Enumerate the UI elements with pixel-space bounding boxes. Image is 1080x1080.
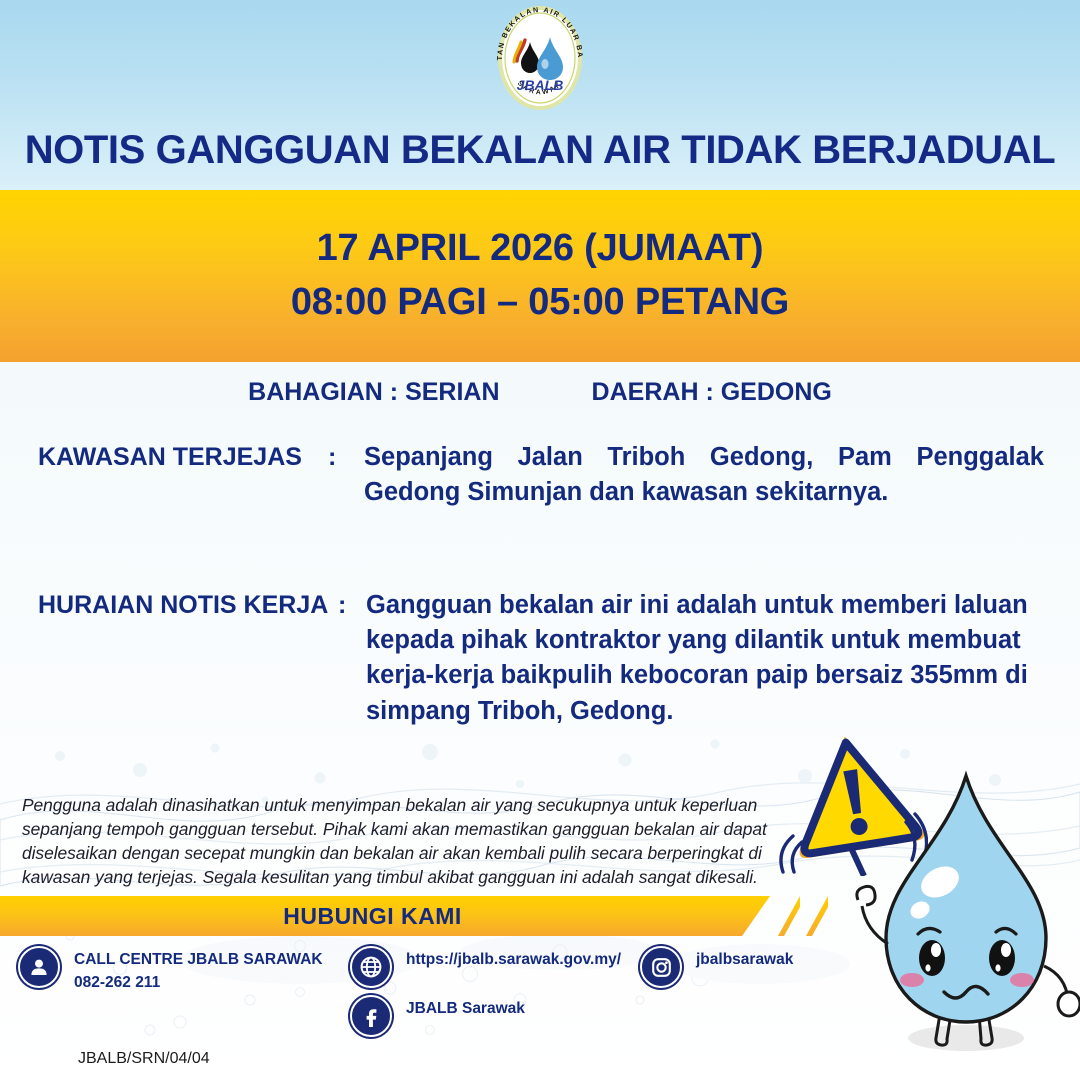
location-row: BAHAGIAN : SERIAN DAERAH : GEDONG bbox=[0, 378, 1080, 407]
facebook-handle: JBALB Sarawak bbox=[406, 995, 525, 1020]
facebook-contact[interactable]: JBALB Sarawak bbox=[350, 995, 525, 1037]
work-description-field: HURAIAN NOTIS KERJA : Gangguan bekalan a… bbox=[38, 588, 1048, 729]
affected-area-colon: : bbox=[328, 440, 364, 475]
contact-band: HUBUNGI KAMI bbox=[0, 896, 1080, 936]
instagram-contact[interactable]: jbalbsarawak bbox=[640, 946, 793, 988]
notice-time: 08:00 PAGI – 05:00 PETANG bbox=[291, 276, 789, 330]
affected-area-label: KAWASAN TERJEJAS bbox=[38, 440, 328, 475]
work-description-colon: : bbox=[338, 588, 366, 623]
contact-band-stripe-1 bbox=[778, 896, 800, 936]
date-time-band: 17 APRIL 2026 (JUMAAT) 08:00 PAGI – 05:0… bbox=[0, 190, 1080, 362]
page-title: NOTIS GANGGUAN BEKALAN AIR TIDAK BERJADU… bbox=[0, 128, 1080, 173]
jbalb-logo: JABATAN BEKALAN AIR LUAR BANDAR SARAWAK … bbox=[488, 6, 592, 110]
affected-area-value: Sepanjang Jalan Triboh Gedong, Pam Pengg… bbox=[364, 440, 1044, 510]
call-centre-number: 082-262 211 bbox=[74, 971, 323, 994]
notice-poster: JABATAN BEKALAN AIR LUAR BANDAR SARAWAK … bbox=[0, 0, 1080, 1080]
website-contact[interactable]: https://jbalb.sarawak.gov.my/ bbox=[350, 946, 621, 988]
instagram-icon bbox=[640, 946, 682, 988]
work-description-value: Gangguan bekalan air ini adalah untuk me… bbox=[366, 588, 1046, 729]
affected-area-field: KAWASAN TERJEJAS : Sepanjang Jalan Tribo… bbox=[38, 440, 1048, 510]
website-url: https://jbalb.sarawak.gov.my/ bbox=[406, 946, 621, 971]
contact-band-label: HUBUNGI KAMI bbox=[0, 896, 745, 936]
instagram-handle: jbalbsarawak bbox=[696, 946, 793, 971]
call-centre-contact[interactable]: CALL CENTRE JBALB SARAWAK 082-262 211 bbox=[18, 946, 323, 995]
header-banner: JABATAN BEKALAN AIR LUAR BANDAR SARAWAK … bbox=[0, 0, 1080, 190]
svg-text:JBALB: JBALB bbox=[517, 77, 564, 93]
notice-date: 17 APRIL 2026 (JUMAAT) bbox=[317, 222, 764, 276]
person-icon bbox=[18, 946, 60, 988]
contact-band-stripe-2 bbox=[806, 896, 828, 936]
globe-icon bbox=[350, 946, 392, 988]
call-centre-text: CALL CENTRE JBALB SARAWAK 082-262 211 bbox=[74, 946, 323, 995]
reference-code: JBALB/SRN/04/04 bbox=[78, 1050, 210, 1068]
work-description-label: HURAIAN NOTIS KERJA bbox=[38, 588, 338, 623]
call-centre-name: CALL CENTRE JBALB SARAWAK bbox=[74, 951, 323, 968]
division-label: BAHAGIAN : SERIAN bbox=[248, 378, 499, 407]
facebook-icon bbox=[350, 995, 392, 1037]
district-label: DAERAH : GEDONG bbox=[592, 378, 832, 407]
advisory-text: Pengguna adalah dinasihatkan untuk menyi… bbox=[22, 793, 782, 889]
